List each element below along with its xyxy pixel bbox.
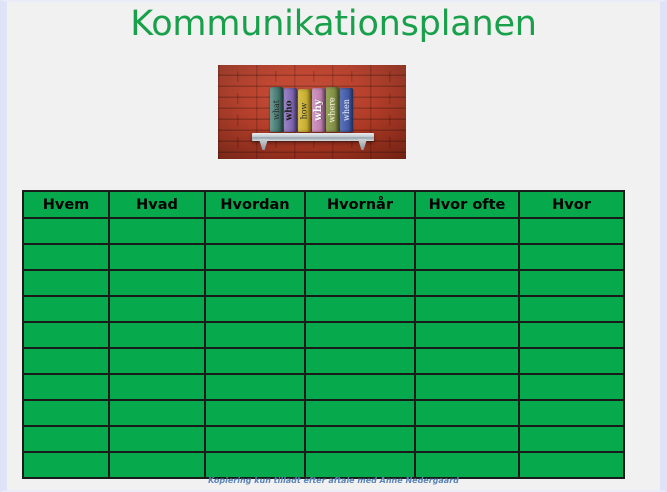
column-header-hvor: Hvor <box>519 191 624 218</box>
table-cell[interactable] <box>519 348 624 374</box>
table-cell[interactable] <box>109 244 205 270</box>
table-row <box>23 270 624 296</box>
book-why: why <box>312 88 325 132</box>
table-cell[interactable] <box>305 452 415 478</box>
table-cell[interactable] <box>109 374 205 400</box>
table-row <box>23 218 624 244</box>
table-row <box>23 452 624 478</box>
table-cell[interactable] <box>415 218 519 244</box>
book-who: who <box>284 88 297 132</box>
column-header-hvornaar: Hvornår <box>305 191 415 218</box>
column-header-hvem: Hvem <box>23 191 109 218</box>
book-how: how <box>298 89 311 132</box>
table-cell[interactable] <box>109 348 205 374</box>
table-cell[interactable] <box>415 400 519 426</box>
table-cell[interactable] <box>415 322 519 348</box>
table-cell[interactable] <box>109 270 205 296</box>
book-spine-label: why <box>314 99 324 121</box>
table-cell[interactable] <box>305 270 415 296</box>
table-cell[interactable] <box>519 270 624 296</box>
table-cell[interactable] <box>519 426 624 452</box>
table-cell[interactable] <box>415 426 519 452</box>
table-cell[interactable] <box>305 400 415 426</box>
table-cell[interactable] <box>305 322 415 348</box>
table-cell[interactable] <box>519 296 624 322</box>
table-cell[interactable] <box>23 244 109 270</box>
column-header-hvor-ofte: Hvor ofte <box>415 191 519 218</box>
table-cell[interactable] <box>23 452 109 478</box>
book-spine-label: who <box>286 100 295 120</box>
table-body <box>23 218 624 478</box>
table-row <box>23 426 624 452</box>
table-cell[interactable] <box>519 244 624 270</box>
table-cell[interactable] <box>109 322 205 348</box>
page-title: Kommunikationsplanen <box>7 4 660 44</box>
table-cell[interactable] <box>519 452 624 478</box>
table-row <box>23 374 624 400</box>
table-cell[interactable] <box>205 348 305 374</box>
table-row <box>23 400 624 426</box>
table-cell[interactable] <box>205 322 305 348</box>
book-where: where <box>326 87 339 132</box>
table-row <box>23 244 624 270</box>
table-cell[interactable] <box>519 400 624 426</box>
table-cell[interactable] <box>23 348 109 374</box>
column-header-hvad: Hvad <box>109 191 205 218</box>
table-cell[interactable] <box>23 218 109 244</box>
table-cell[interactable] <box>23 322 109 348</box>
book-what: what <box>270 87 283 132</box>
table-cell[interactable] <box>109 426 205 452</box>
column-header-hvordan: Hvordan <box>205 191 305 218</box>
book-row: what who how why where when <box>270 86 354 132</box>
table-cell[interactable] <box>205 426 305 452</box>
table-row <box>23 296 624 322</box>
table-cell[interactable] <box>205 218 305 244</box>
bookshelf-image: what who how why where when <box>218 65 406 159</box>
book-spine-label: what <box>273 100 281 120</box>
table-cell[interactable] <box>305 374 415 400</box>
table-cell[interactable] <box>23 270 109 296</box>
table-cell[interactable] <box>23 400 109 426</box>
book-spine-label: when <box>343 99 351 121</box>
table-cell[interactable] <box>109 400 205 426</box>
table-cell[interactable] <box>205 296 305 322</box>
table-cell[interactable] <box>305 348 415 374</box>
table-cell[interactable] <box>109 452 205 478</box>
table-cell[interactable] <box>305 426 415 452</box>
table-cell[interactable] <box>23 426 109 452</box>
table-cell[interactable] <box>305 296 415 322</box>
book-spine-label: where <box>329 97 337 122</box>
table-cell[interactable] <box>415 374 519 400</box>
table-header-row: Hvem Hvad Hvordan Hvornår Hvor ofte Hvor <box>23 191 624 218</box>
table-cell[interactable] <box>519 218 624 244</box>
table-cell[interactable] <box>305 244 415 270</box>
table-cell[interactable] <box>415 296 519 322</box>
table-cell[interactable] <box>109 296 205 322</box>
table-cell[interactable] <box>415 452 519 478</box>
table-cell[interactable] <box>23 296 109 322</box>
table-cell[interactable] <box>205 400 305 426</box>
table-cell[interactable] <box>205 374 305 400</box>
communication-plan-table: Hvem Hvad Hvordan Hvornår Hvor ofte Hvor <box>22 190 625 479</box>
table-cell[interactable] <box>519 374 624 400</box>
table-cell[interactable] <box>415 270 519 296</box>
slide-canvas: Kommunikationsplanen what who how why wh… <box>0 0 667 492</box>
book-spine-label: how <box>301 102 309 119</box>
glass-shelf <box>252 133 374 141</box>
table-cell[interactable] <box>519 322 624 348</box>
table-cell[interactable] <box>205 244 305 270</box>
table-cell[interactable] <box>305 218 415 244</box>
table-row <box>23 322 624 348</box>
table-row <box>23 348 624 374</box>
table-cell[interactable] <box>415 348 519 374</box>
table-cell[interactable] <box>205 270 305 296</box>
book-when: when <box>340 88 353 132</box>
table-cell[interactable] <box>415 244 519 270</box>
table-cell[interactable] <box>23 374 109 400</box>
table-cell[interactable] <box>109 218 205 244</box>
copyright-footer: Kopiering kun tilladt efter aftale med A… <box>7 476 660 485</box>
table-cell[interactable] <box>205 452 305 478</box>
